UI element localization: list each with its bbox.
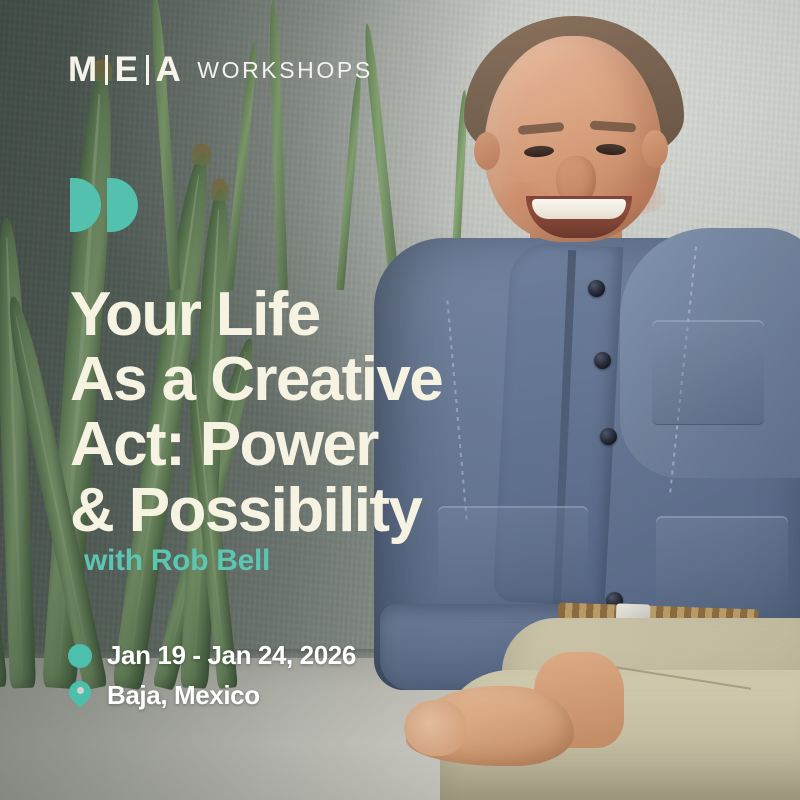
mea-divider-icon bbox=[105, 55, 108, 85]
event-date: Jan 19 - Jan 24, 2026 bbox=[107, 640, 356, 671]
mea-letter-m: M bbox=[68, 52, 98, 87]
brand-lockup: M E A WORKSHOPS bbox=[68, 52, 373, 87]
page-title: Your Life As a Creative Act: Power & Pos… bbox=[70, 282, 630, 544]
product-label: WORKSHOPS bbox=[197, 59, 372, 82]
workshop-promo-poster: M E A WORKSHOPS Your Life As a Creative … bbox=[0, 0, 800, 800]
event-details: Jan 19 - Jan 24, 2026 Baja, Mexico bbox=[68, 640, 356, 720]
mea-letter-a: A bbox=[156, 52, 182, 87]
poster-content: M E A WORKSHOPS Your Life As a Creative … bbox=[0, 0, 800, 800]
mea-divider-icon bbox=[146, 55, 149, 85]
circle-date-icon bbox=[68, 644, 92, 668]
event-date-row: Jan 19 - Jan 24, 2026 bbox=[68, 640, 356, 671]
d-shape-icon bbox=[107, 178, 138, 232]
map-pin-icon bbox=[68, 681, 92, 711]
event-location: Baja, Mexico bbox=[107, 680, 260, 711]
d-shape-icon bbox=[70, 178, 101, 232]
map-pin-hole bbox=[77, 687, 84, 694]
mea-logo: M E A bbox=[68, 52, 181, 87]
presenter-credit: with Rob Bell bbox=[84, 544, 270, 578]
double-d-mark-icon bbox=[70, 178, 138, 232]
event-location-row: Baja, Mexico bbox=[68, 680, 356, 711]
mea-letter-e: E bbox=[115, 52, 139, 87]
